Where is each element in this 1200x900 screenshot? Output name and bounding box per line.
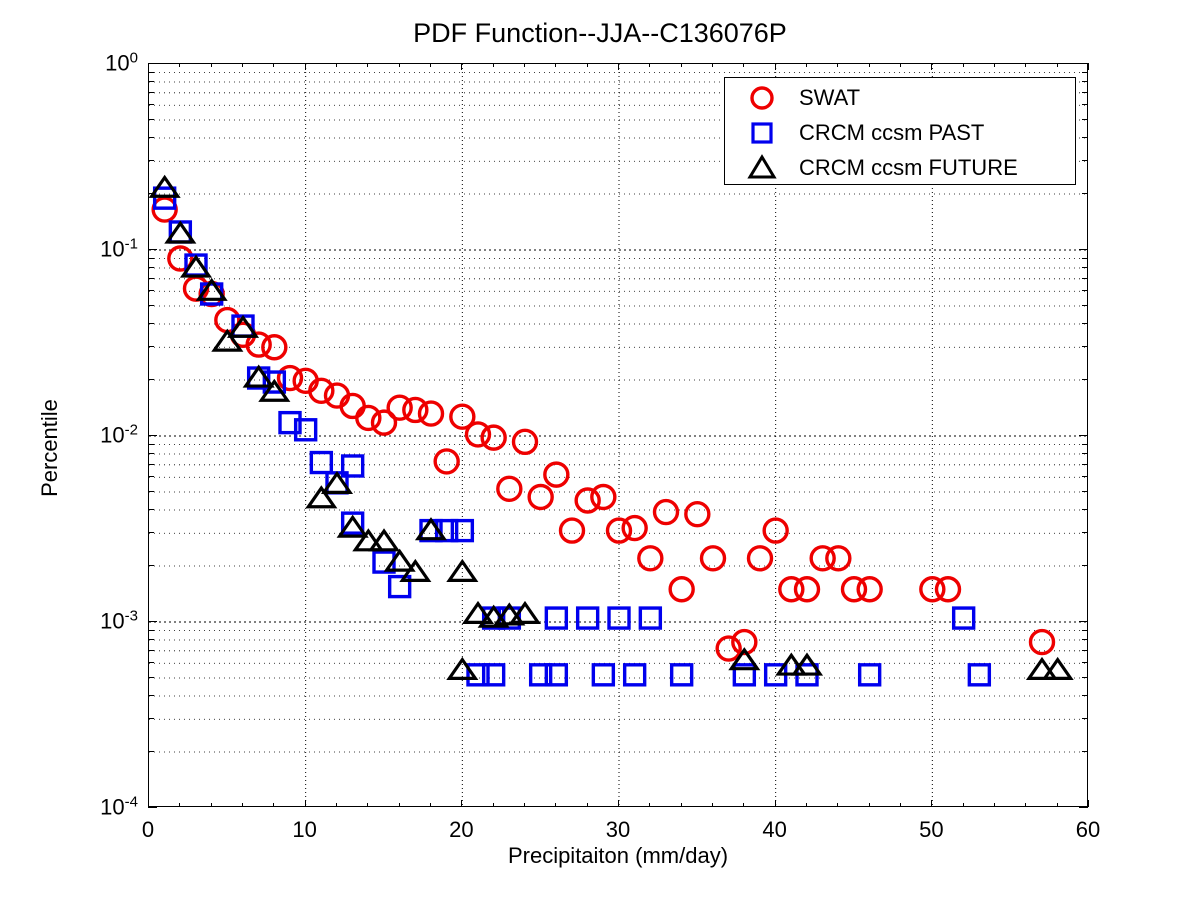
tick-mark: [1082, 267, 1088, 268]
tick-mark: [1082, 464, 1088, 465]
tick-mark: [148, 92, 154, 93]
tick-mark: [1082, 92, 1088, 93]
tick-mark: [273, 63, 274, 67]
tick-mark: [493, 63, 494, 67]
tick-mark: [743, 803, 744, 807]
tick-mark: [1082, 532, 1088, 533]
tick-mark: [1082, 565, 1088, 566]
tick-mark: [1082, 650, 1088, 651]
series-triangle: [152, 178, 1071, 679]
tick-mark: [587, 803, 588, 807]
tick-mark: [430, 803, 431, 807]
tick-mark: [148, 258, 154, 259]
tick-mark: [1082, 81, 1088, 82]
tick-mark: [743, 63, 744, 67]
tick-mark: [837, 63, 838, 67]
tick-mark: [179, 63, 180, 67]
tick-mark: [367, 803, 368, 807]
tick-mark: [399, 63, 400, 67]
x-tick-label: 10: [292, 817, 316, 843]
tick-mark: [242, 803, 243, 807]
tick-mark: [148, 453, 154, 454]
tick-mark: [712, 803, 713, 807]
tick-mark: [931, 800, 932, 807]
tick-mark: [430, 63, 431, 67]
tick-mark: [148, 751, 154, 752]
y-tick-label: 100: [40, 49, 138, 76]
tick-mark: [148, 305, 154, 306]
tick-mark: [649, 803, 650, 807]
x-tick-label: 20: [449, 817, 473, 843]
tick-mark: [211, 803, 212, 807]
tick-mark: [148, 650, 154, 651]
x-tick-label: 50: [919, 817, 943, 843]
tick-mark: [1082, 630, 1088, 631]
tick-mark: [148, 695, 154, 696]
tick-mark: [775, 800, 776, 807]
tick-mark: [1082, 639, 1088, 640]
tick-mark: [148, 509, 154, 510]
legend-label: CRCM ccsm PAST: [799, 120, 984, 146]
tick-mark: [1082, 278, 1088, 279]
tick-mark: [211, 63, 212, 67]
y-axis-title: Percentile: [37, 338, 63, 558]
tick-mark: [148, 379, 154, 380]
tick-mark: [681, 63, 682, 67]
tick-mark: [963, 63, 964, 67]
tick-mark: [963, 803, 964, 807]
tick-mark: [1082, 193, 1088, 194]
tick-mark: [461, 63, 462, 70]
tick-mark: [1082, 444, 1088, 445]
tick-mark: [148, 72, 154, 73]
tick-mark: [1082, 751, 1088, 752]
tick-mark: [148, 137, 154, 138]
tick-mark: [1082, 104, 1088, 105]
tick-mark: [179, 803, 180, 807]
tick-mark: [1088, 800, 1089, 807]
legend-triangle-icon: [725, 153, 799, 183]
chart-title: PDF Function--JJA--C136076P: [0, 18, 1200, 49]
tick-mark: [148, 104, 154, 105]
tick-mark: [1079, 435, 1088, 436]
tick-mark: [869, 63, 870, 67]
tick-mark: [148, 565, 154, 566]
x-tick-label: 60: [1076, 817, 1100, 843]
tick-mark: [1082, 509, 1088, 510]
tick-mark: [148, 464, 154, 465]
legend-square-icon: [725, 118, 799, 148]
tick-mark: [1082, 290, 1088, 291]
tick-mark: [148, 278, 154, 279]
tick-mark: [461, 800, 462, 807]
legend-label: CRCM ccsm FUTURE: [799, 155, 1018, 181]
tick-mark: [336, 803, 337, 807]
tick-mark: [681, 803, 682, 807]
tick-mark: [1088, 63, 1089, 70]
chart-figure: PDF Function--JJA--C136076P 010203040506…: [0, 0, 1200, 900]
tick-mark: [1079, 807, 1088, 808]
legend-item-square[interactable]: CRCM ccsm PAST: [725, 115, 1075, 151]
tick-mark: [1079, 621, 1088, 622]
x-tick-label: 30: [606, 817, 630, 843]
tick-mark: [493, 803, 494, 807]
tick-mark: [618, 63, 619, 70]
tick-mark: [148, 718, 154, 719]
tick-mark: [148, 63, 149, 70]
tick-mark: [1057, 63, 1058, 67]
tick-mark: [1082, 323, 1088, 324]
tick-mark: [305, 800, 306, 807]
tick-mark: [618, 800, 619, 807]
tick-mark: [148, 63, 157, 64]
tick-mark: [242, 63, 243, 67]
tick-mark: [148, 621, 157, 622]
tick-mark: [524, 803, 525, 807]
tick-mark: [837, 803, 838, 807]
tick-mark: [148, 323, 154, 324]
tick-mark: [1079, 249, 1088, 250]
series-square: [155, 188, 990, 685]
tick-mark: [148, 267, 154, 268]
tick-mark: [148, 662, 154, 663]
tick-mark: [148, 630, 154, 631]
tick-mark: [806, 63, 807, 67]
x-tick-label: 40: [762, 817, 786, 843]
legend-item-triangle[interactable]: CRCM ccsm FUTURE: [725, 150, 1075, 186]
tick-mark: [775, 63, 776, 70]
tick-mark: [994, 803, 995, 807]
tick-mark: [806, 803, 807, 807]
tick-mark: [367, 63, 368, 67]
tick-mark: [1082, 346, 1088, 347]
tick-mark: [148, 81, 154, 82]
x-axis-title: Precipitaiton (mm/day): [148, 843, 1088, 869]
tick-mark: [148, 119, 154, 120]
tick-mark: [1082, 453, 1088, 454]
x-tick-label: 0: [142, 817, 154, 843]
tick-mark: [649, 63, 650, 67]
tick-mark: [148, 476, 154, 477]
tick-mark: [587, 63, 588, 67]
tick-mark: [1079, 63, 1088, 64]
tick-mark: [900, 803, 901, 807]
tick-mark: [148, 491, 154, 492]
tick-mark: [1082, 72, 1088, 73]
tick-mark: [148, 639, 154, 640]
tick-mark: [148, 290, 154, 291]
tick-mark: [555, 803, 556, 807]
y-tick-label: 10-1: [40, 235, 138, 262]
tick-mark: [1082, 258, 1088, 259]
series-circle: [153, 198, 1053, 660]
tick-mark: [1082, 379, 1088, 380]
tick-mark: [148, 193, 154, 194]
tick-mark: [148, 435, 157, 436]
tick-mark: [273, 803, 274, 807]
tick-mark: [1082, 677, 1088, 678]
legend-label: SWAT: [799, 85, 860, 111]
tick-mark: [994, 63, 995, 67]
tick-mark: [1082, 491, 1088, 492]
tick-mark: [399, 803, 400, 807]
tick-mark: [931, 63, 932, 70]
tick-mark: [712, 63, 713, 67]
tick-mark: [148, 532, 154, 533]
tick-mark: [148, 160, 154, 161]
chart-legend: SWATCRCM ccsm PASTCRCM ccsm FUTURE: [724, 77, 1076, 185]
tick-mark: [1082, 119, 1088, 120]
legend-circle-icon: [725, 83, 799, 113]
tick-mark: [148, 807, 157, 808]
tick-mark: [900, 63, 901, 67]
tick-mark: [524, 63, 525, 67]
tick-mark: [305, 63, 306, 70]
tick-mark: [148, 444, 154, 445]
legend-item-circle[interactable]: SWAT: [725, 80, 1075, 116]
tick-mark: [148, 249, 157, 250]
tick-mark: [1082, 476, 1088, 477]
tick-mark: [148, 346, 154, 347]
tick-mark: [1082, 305, 1088, 306]
y-tick-label: 10-3: [40, 607, 138, 634]
tick-mark: [148, 800, 149, 807]
tick-mark: [148, 677, 154, 678]
tick-mark: [1025, 63, 1026, 67]
y-tick-label: 10-4: [40, 793, 138, 820]
tick-mark: [1082, 160, 1088, 161]
tick-mark: [336, 63, 337, 67]
tick-mark: [1082, 137, 1088, 138]
tick-mark: [1082, 718, 1088, 719]
tick-mark: [869, 803, 870, 807]
tick-mark: [1025, 803, 1026, 807]
tick-mark: [1057, 803, 1058, 807]
tick-mark: [1082, 662, 1088, 663]
tick-mark: [1082, 695, 1088, 696]
tick-mark: [555, 63, 556, 67]
